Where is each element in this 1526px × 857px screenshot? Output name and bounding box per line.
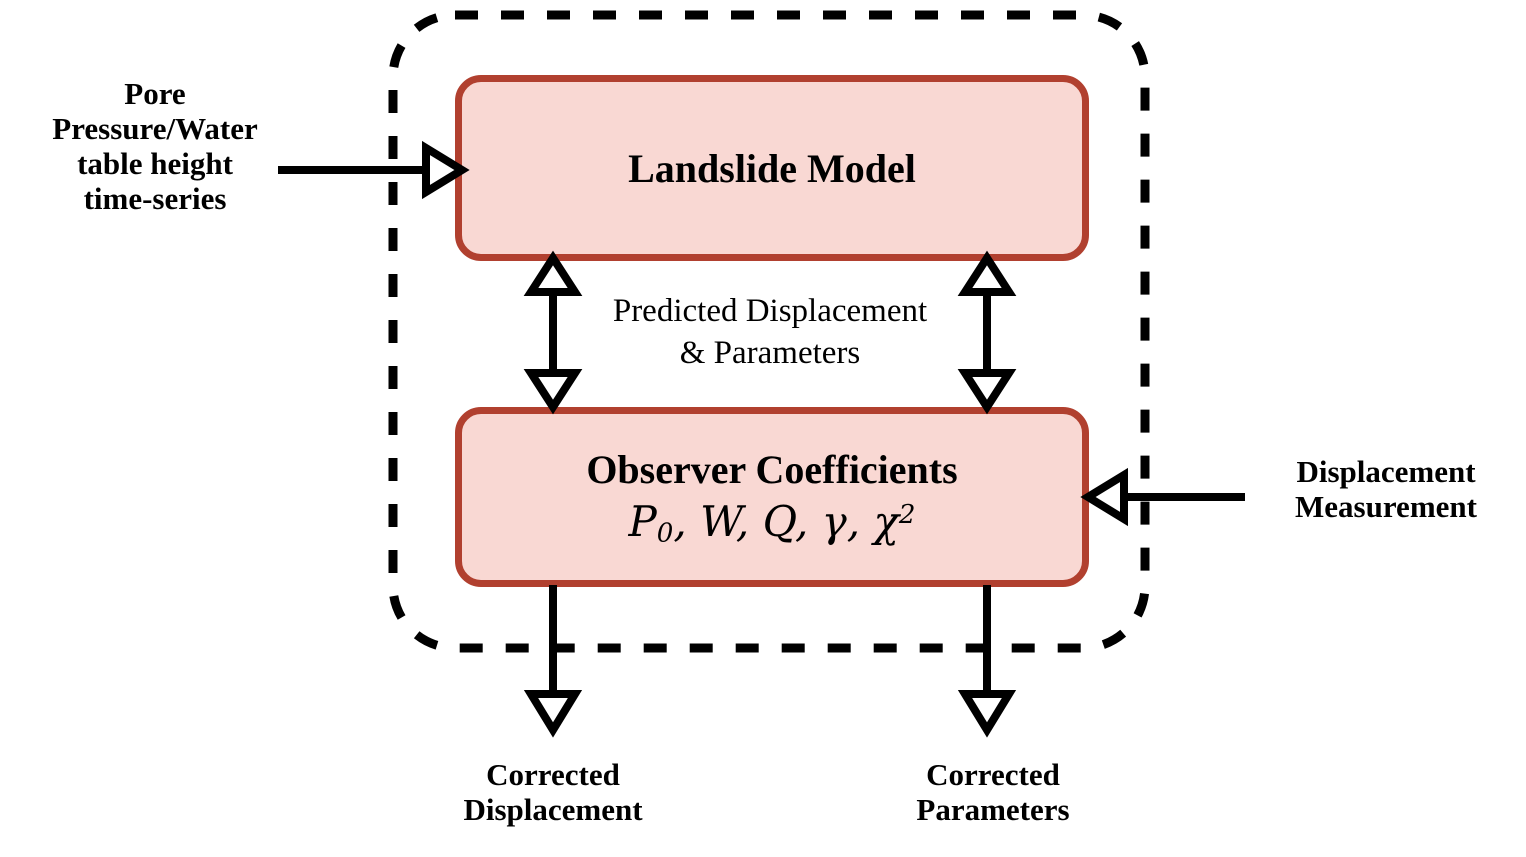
predicted-displacement-right-arrow xyxy=(965,258,1009,407)
diagram-canvas: Landslide Model Observer Coefficients P0… xyxy=(0,0,1526,857)
corrected-displacement-label: Corrected Displacement xyxy=(418,757,688,828)
displacement-measurement-input-arrow xyxy=(1088,475,1245,519)
predicted-displacement-left-arrow xyxy=(531,258,575,407)
corrected-displacement-output-arrow xyxy=(531,585,575,730)
predicted-displacement-label: Predicted Displacement & Parameters xyxy=(578,291,962,375)
pore-pressure-input-label: Pore Pressure/Water table height time-se… xyxy=(10,76,300,216)
corrected-parameters-output-arrow xyxy=(965,585,1009,730)
displacement-measurement-label: Displacement Measurement xyxy=(1252,454,1520,525)
pore-pressure-input-arrow xyxy=(278,148,462,192)
corrected-parameters-label: Corrected Parameters xyxy=(858,757,1128,828)
